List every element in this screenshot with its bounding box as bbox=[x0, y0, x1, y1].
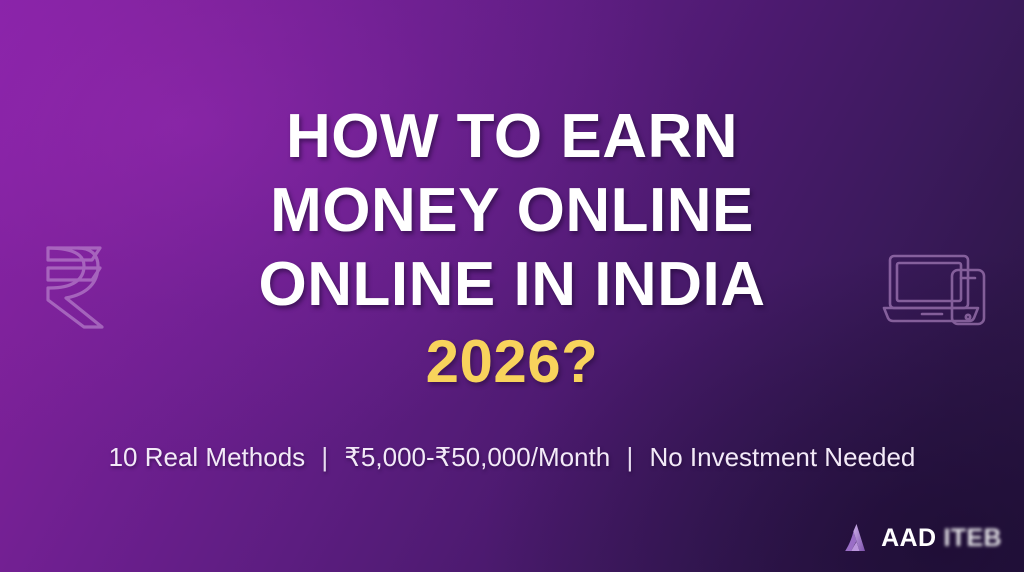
letter-a-logo-mark bbox=[840, 521, 874, 555]
thumbnail-canvas: HOW TO EARN MONEY ONLINE ONLINE IN INDIA… bbox=[0, 0, 1024, 572]
headline-block: HOW TO EARN MONEY ONLINE ONLINE IN INDIA… bbox=[0, 100, 1024, 396]
headline-line-3: ONLINE IN INDIA bbox=[120, 248, 904, 322]
brand-name-blurred-tail: ITEB bbox=[943, 526, 1002, 551]
headline-year: 2026? bbox=[120, 328, 904, 396]
subtitle-part-earnings: ₹5,000-₹50,000/Month bbox=[344, 442, 610, 472]
headline-line-1: HOW TO EARN bbox=[120, 100, 904, 174]
brand-name: AAD bbox=[881, 526, 936, 551]
subtitle-part-investment: No Investment Needed bbox=[649, 442, 915, 472]
headline-line-2: MONEY ONLINE bbox=[120, 174, 904, 248]
subtitle-part-methods: 10 Real Methods bbox=[109, 442, 306, 472]
subtitle-bar: 10 Real Methods | ₹5,000-₹50,000/Month |… bbox=[0, 440, 1024, 474]
subtitle-separator-1: | bbox=[321, 440, 328, 474]
subtitle-separator-2: | bbox=[626, 440, 633, 474]
brand-watermark: AAD ITEB bbox=[840, 518, 1002, 558]
